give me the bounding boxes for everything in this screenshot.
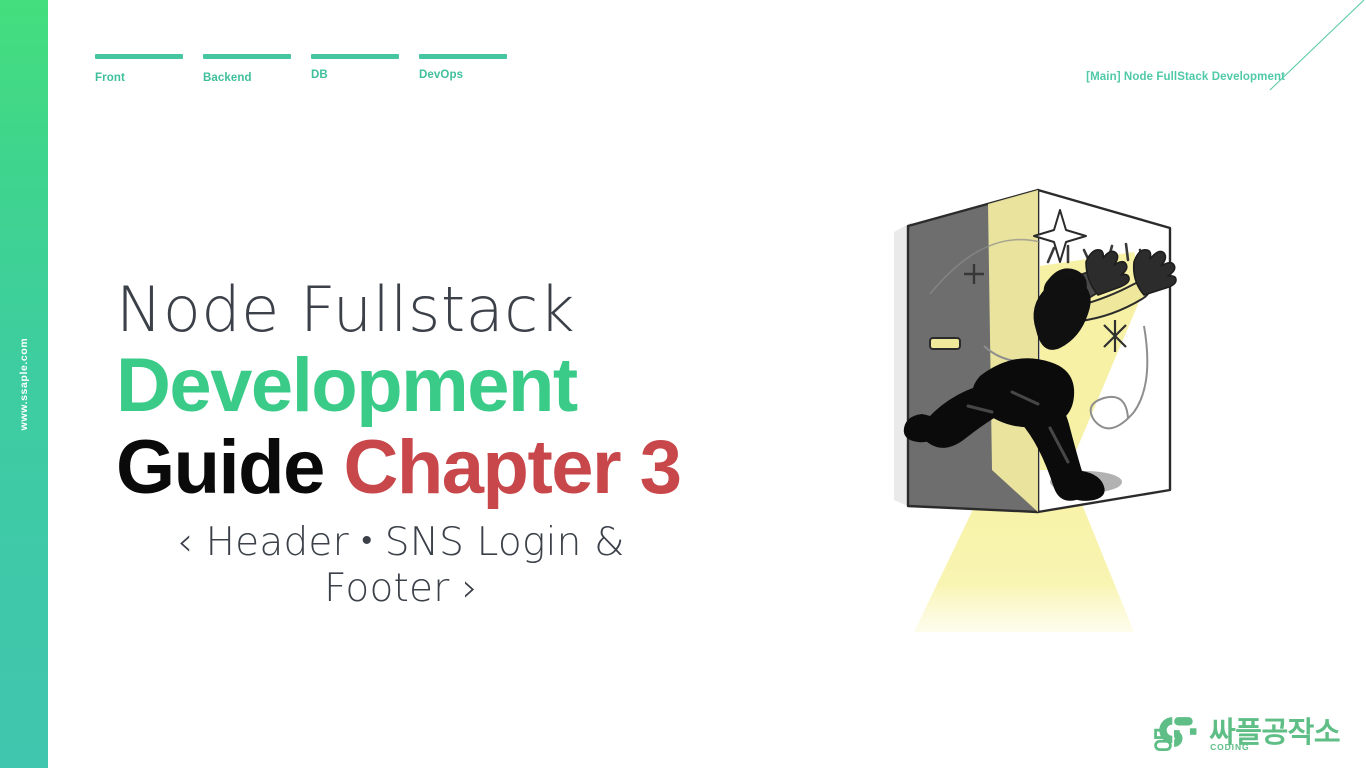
- page-title-guide: Guide: [116, 425, 324, 510]
- slide-root: www.ssaple.com Front Backend DB DevOps […: [0, 0, 1366, 768]
- ssaple-logo-mark-icon: [1150, 706, 1202, 758]
- topnav-underline-devops: [419, 54, 507, 59]
- door-lit-edge: [988, 190, 1038, 512]
- topnav-label-backend: Backend: [203, 72, 291, 84]
- subtitle-chevron-right: ›: [462, 566, 478, 611]
- page-title-chapter: Chapter 3: [343, 425, 680, 510]
- site-url-vertical: www.ssaple.com: [18, 338, 30, 431]
- subtitle-part-header: Header: [206, 520, 349, 565]
- subtitle-chevron-left: ‹: [177, 520, 193, 565]
- topnav-label-devops: DevOps: [419, 69, 507, 81]
- page-subtitle: ‹ Header • SNS Login & Footer ›: [116, 518, 686, 612]
- topnav-label-db: DB: [311, 69, 399, 81]
- door-handle: [930, 338, 960, 349]
- topnav-underline-backend: [203, 54, 291, 59]
- breadcrumb: [Main] Node FullStack Development: [1086, 71, 1285, 83]
- subtitle-separator-dot: •: [361, 523, 372, 558]
- topnav-label-front: Front: [95, 72, 183, 84]
- topnav-item-devops[interactable]: DevOps: [419, 54, 507, 81]
- side-gradient-stripe: www.ssaple.com: [0, 0, 48, 768]
- topnav-underline-db: [311, 54, 399, 59]
- page-title-line3: Guide Chapter 3: [116, 426, 756, 510]
- page-title-line2: Development: [116, 344, 756, 428]
- door-light-illustration: [872, 170, 1192, 650]
- headline-block: Node Fullstack Development Guide Chapter…: [116, 272, 756, 612]
- topnav-item-backend[interactable]: Backend: [203, 54, 291, 84]
- page-title-line1: Node Fullstack: [116, 272, 756, 348]
- topnav-item-front[interactable]: Front: [95, 54, 183, 84]
- topnav: Front Backend DB DevOps: [95, 54, 565, 96]
- brand-logo: 싸플공작소 CODING: [1150, 706, 1340, 758]
- brand-text: 싸플공작소 CODING: [1209, 715, 1340, 749]
- topnav-underline-front: [95, 54, 183, 59]
- topnav-item-db[interactable]: DB: [311, 54, 399, 81]
- brand-subtitle: CODING: [1210, 742, 1249, 752]
